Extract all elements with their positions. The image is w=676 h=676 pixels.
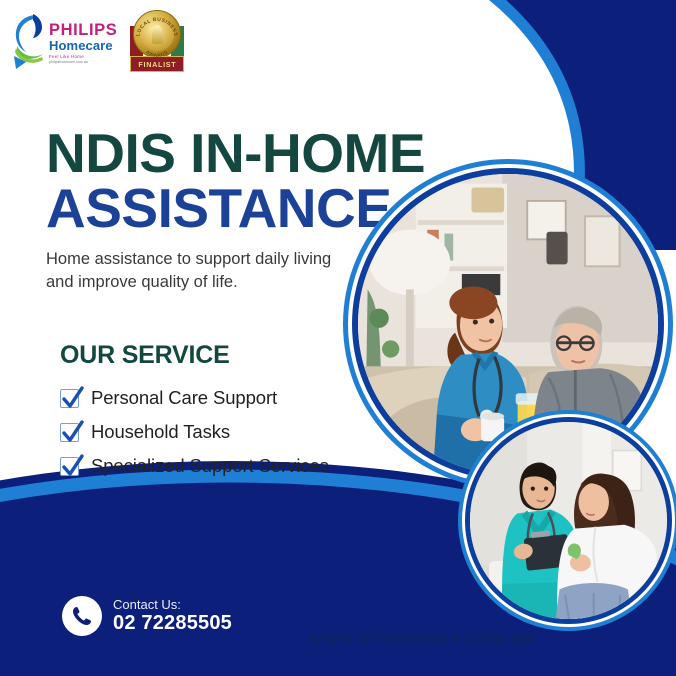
contact-block: Contact Us: 02 72285505 bbox=[62, 596, 232, 636]
services-heading: OUR SERVICE bbox=[60, 341, 400, 370]
service-label: Personal Care Support bbox=[91, 387, 277, 409]
svg-text:LOCAL BUSINESS: LOCAL BUSINESS bbox=[136, 17, 180, 37]
service-label: Household Tasks bbox=[91, 421, 230, 443]
logo-philips-text: PHILIPS bbox=[49, 22, 117, 39]
logo-wordmark: PHILIPS Homecare Feel Like Home philipsh… bbox=[49, 18, 117, 64]
contact-text: Contact Us: 02 72285505 bbox=[113, 598, 232, 635]
promotional-poster: PHILIPS Homecare Feel Like Home philipsh… bbox=[0, 0, 676, 676]
list-item: Household Tasks bbox=[60, 421, 400, 443]
philips-homecare-logo: PHILIPS Homecare Feel Like Home philipsh… bbox=[12, 12, 117, 70]
logo-homecare-text: Homecare bbox=[49, 39, 117, 52]
header-logo-group: PHILIPS Homecare Feel Like Home philipsh… bbox=[12, 10, 183, 72]
award-ring-text: LOCAL BUSINESS AWARDS bbox=[131, 10, 183, 72]
contact-phone-number[interactable]: 02 72285505 bbox=[113, 613, 232, 634]
phone-icon[interactable] bbox=[62, 596, 102, 636]
contact-label: Contact Us: bbox=[113, 598, 232, 612]
services-section: OUR SERVICE Personal Care Support Househ… bbox=[60, 341, 400, 489]
list-item: Specialized Support Services bbox=[60, 455, 400, 477]
svg-text:AWARDS: AWARDS bbox=[145, 49, 170, 59]
photo-nurse-with-young-woman bbox=[465, 417, 672, 624]
award-ring-top-label: LOCAL BUSINESS bbox=[136, 17, 180, 37]
award-ring-bottom-label: AWARDS bbox=[145, 49, 170, 59]
swoosh-leaf-icon bbox=[12, 12, 46, 70]
logo-subtext: philipshomecare.com.au bbox=[49, 61, 117, 64]
checkbox-checked-icon[interactable] bbox=[60, 423, 79, 442]
local-business-awards-finalist-badge: LOCAL BUSINESS AWARDS FINALIST bbox=[131, 10, 183, 72]
headline-line-1: NDIS IN-HOME bbox=[46, 128, 446, 179]
checkbox-checked-icon[interactable] bbox=[60, 389, 79, 408]
website-url[interactable]: www.phomecare.com.au bbox=[308, 628, 534, 650]
service-label: Specialized Support Services bbox=[91, 455, 329, 477]
list-item: Personal Care Support bbox=[60, 387, 400, 409]
page-title: NDIS IN-HOME ASSISTANCE bbox=[46, 128, 446, 233]
subtitle-text: Home assistance to support daily living … bbox=[46, 248, 346, 295]
checkbox-checked-icon[interactable] bbox=[60, 457, 79, 476]
